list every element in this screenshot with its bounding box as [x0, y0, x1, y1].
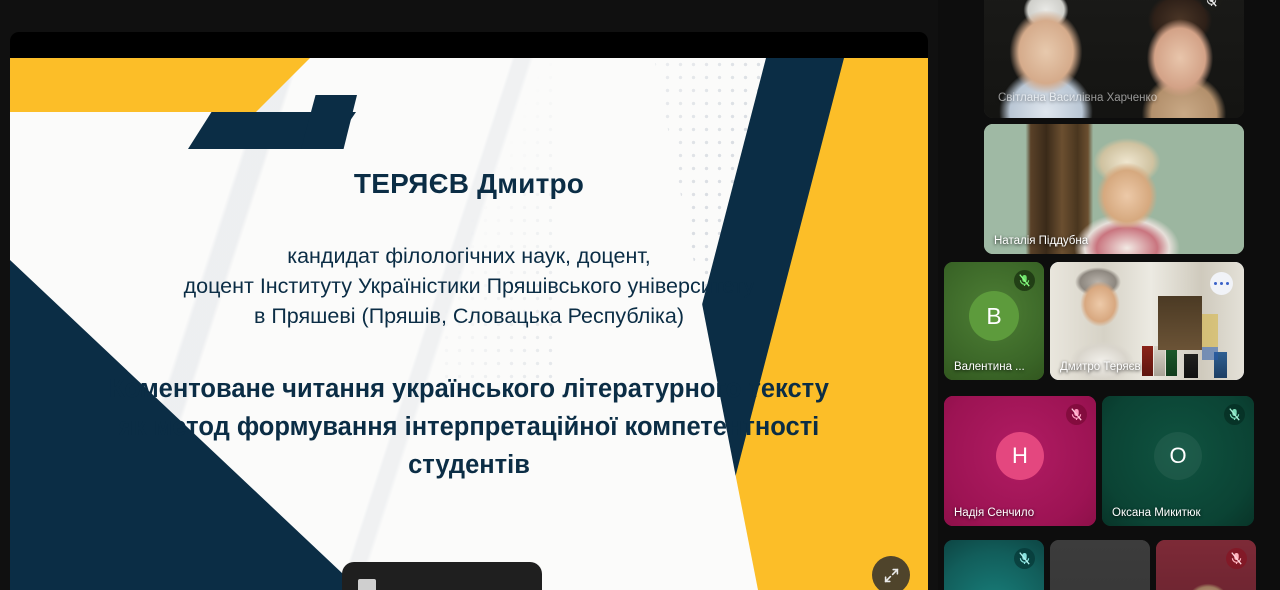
presenter-name: ТЕРЯЄВ Дмитро	[60, 168, 878, 200]
microphone-muted-icon	[1229, 408, 1240, 421]
shared-screen-stage[interactable]: ТЕРЯЄВ Дмитро кандидат філологічних наук…	[0, 0, 938, 590]
presentation-title: Коментоване читання українського літерат…	[38, 370, 900, 484]
participant-tile[interactable]: Світлана Василівна Харченко	[984, 0, 1244, 118]
microphone-muted-icon	[1231, 552, 1242, 565]
mic-muted-badge	[1014, 548, 1035, 569]
title-line-3: студентів	[38, 446, 900, 484]
participant-tile[interactable]: Н Надія Сенчило	[944, 396, 1096, 526]
presenter-affiliation: кандидат філологічних наук, доцент, доце…	[60, 241, 878, 331]
presentation-slide: ТЕРЯЄВ Дмитро кандидат філологічних наук…	[10, 58, 928, 590]
mic-muted-badge	[1014, 270, 1035, 291]
microphone-muted-icon	[1019, 274, 1030, 287]
participant-name: Валентина ...	[954, 361, 1025, 373]
fullscreen-expand-icon	[883, 567, 900, 584]
participant-name: Дмитро Теряєв	[1060, 361, 1141, 373]
share-control-toolbar[interactable]	[342, 562, 542, 590]
participant-tile[interactable]: Наталія Піддубна	[984, 124, 1244, 254]
microphone-muted-icon	[1206, 0, 1217, 7]
dot	[1226, 282, 1230, 286]
participant-name: Світлана Василівна Харченко	[998, 92, 1157, 104]
participant-name: Надія Сенчило	[954, 507, 1034, 519]
share-screen-icon	[358, 579, 376, 590]
participant-tile[interactable]: Дмитро Теряєв	[1050, 262, 1244, 380]
participant-filmstrip[interactable]: Світлана Василівна Харченко Наталія Підд…	[938, 0, 1280, 590]
slide-text-block: ТЕРЯЄВ Дмитро кандидат філологічних наук…	[10, 58, 928, 590]
more-options-button[interactable]	[1210, 272, 1233, 295]
avatar-tile-background	[1050, 540, 1150, 590]
avatar: Н	[996, 432, 1044, 480]
microphone-muted-icon	[1019, 552, 1030, 565]
participant-tile[interactable]	[944, 540, 1044, 590]
affiliation-line-2: доцент Інституту Україністики Пряшівсько…	[60, 271, 878, 301]
title-line-1: Коментоване читання українського літерат…	[38, 370, 900, 408]
avatar: О	[1154, 432, 1202, 480]
dot	[1214, 282, 1218, 286]
participant-tile[interactable]: О Оксана Микитюк	[1102, 396, 1254, 526]
conference-window: ТЕРЯЄВ Дмитро кандидат філологічних наук…	[0, 0, 1280, 590]
fullscreen-expand-button[interactable]	[872, 556, 910, 590]
affiliation-line-1: кандидат філологічних наук, доцент,	[60, 241, 878, 271]
participant-name: Наталія Піддубна	[994, 235, 1088, 247]
mic-muted-badge	[1226, 548, 1247, 569]
dot	[1220, 282, 1224, 286]
title-line-2: як метод формування інтерпретаційної ком…	[38, 408, 900, 446]
affiliation-line-3: в Пряшеві (Пряшів, Словацька Республіка)	[60, 301, 878, 331]
avatar: В	[969, 291, 1019, 341]
participant-tile[interactable]: В Валентина ...	[944, 262, 1044, 380]
participant-name: Оксана Микитюк	[1112, 507, 1201, 519]
participant-tile[interactable]: О	[1050, 540, 1150, 590]
shared-screen-frame[interactable]: ТЕРЯЄВ Дмитро кандидат філологічних наук…	[10, 32, 928, 590]
mic-muted-badge	[1224, 404, 1245, 425]
microphone-muted-icon	[1071, 408, 1082, 421]
mic-muted-badge	[1066, 404, 1087, 425]
participant-tile[interactable]	[1156, 540, 1256, 590]
